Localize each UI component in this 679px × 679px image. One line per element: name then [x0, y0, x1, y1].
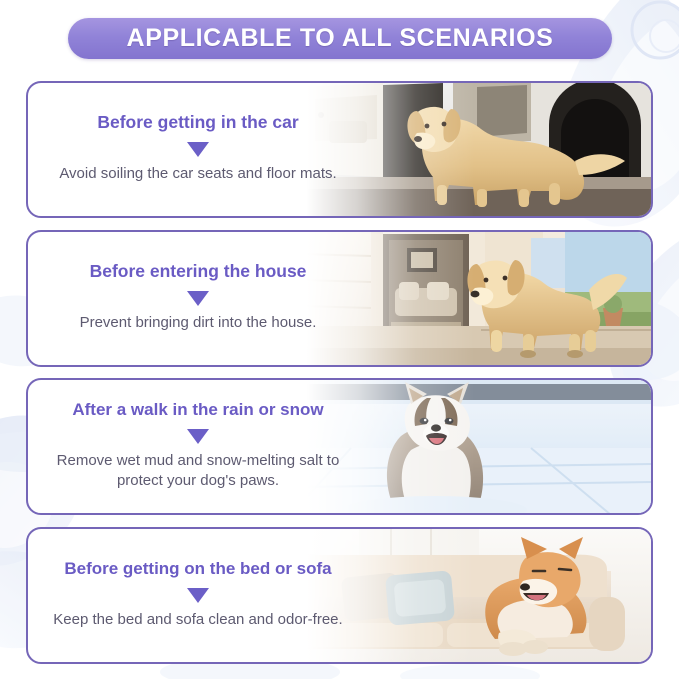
scenario-card: Before entering the house Prevent bringi… [26, 230, 653, 367]
triangle-down-icon [187, 291, 209, 306]
header-banner-title: APPLICABLE TO ALL SCENARIOS [127, 24, 554, 53]
scenario-card: Before getting on the bed or sofa Keep t… [26, 527, 653, 664]
scenario-card: After a walk in the rain or snow Remove … [26, 378, 653, 515]
scenario-title: After a walk in the rain or snow [72, 400, 323, 420]
scenario-description: Avoid soiling the car seats and floor ma… [59, 164, 336, 184]
triangle-down-icon [187, 588, 209, 603]
scenario-card-text: Before getting on the bed or sofa Keep t… [28, 529, 368, 662]
scenario-card: Before getting in the car Avoid soiling … [26, 81, 653, 218]
triangle-down-icon [187, 142, 209, 157]
scenario-card-text: Before getting in the car Avoid soiling … [28, 83, 368, 216]
header-banner: APPLICABLE TO ALL SCENARIOS [68, 18, 612, 59]
scenario-description: Prevent bringing dirt into the house. [80, 313, 317, 333]
scenario-description: Remove wet mud and snow-melting salt to … [48, 451, 348, 491]
scenario-card-text: Before entering the house Prevent bringi… [28, 232, 368, 365]
scenario-title: Before getting on the bed or sofa [64, 559, 331, 579]
scenarios-infographic: APPLICABLE TO ALL SCENARIOS [0, 0, 679, 679]
scenario-card-text: After a walk in the rain or snow Remove … [28, 380, 368, 513]
scenario-title: Before getting in the car [97, 112, 298, 133]
scenario-description: Keep the bed and sofa clean and odor-fre… [53, 610, 342, 630]
triangle-down-icon [187, 429, 209, 444]
scenario-title: Before entering the house [90, 261, 307, 282]
